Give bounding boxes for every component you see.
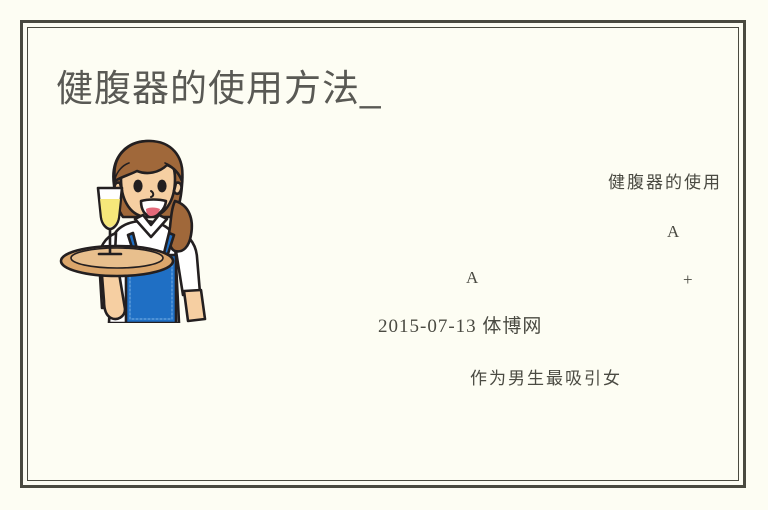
plus-icon: + xyxy=(683,270,693,290)
right-ear xyxy=(174,183,181,194)
overlay-date-source: 2015-07-13 体博网 xyxy=(378,311,542,338)
left-eye xyxy=(133,180,142,193)
overlay-title-text: 健腹器的使用 xyxy=(608,168,722,193)
waitress-illustration xyxy=(55,133,230,323)
page-title: 健腹器的使用方法_ xyxy=(56,66,382,112)
poster-canvas: 健腹器的使用方法_ xyxy=(0,0,768,510)
font-size-large-letter: A xyxy=(667,222,679,242)
font-size-small-letter: A xyxy=(466,268,478,288)
tray-inner xyxy=(71,248,163,268)
overlay-body-text: 作为男生最吸引女 xyxy=(470,364,622,389)
right-forearm xyxy=(184,290,205,321)
right-eye xyxy=(157,180,166,193)
